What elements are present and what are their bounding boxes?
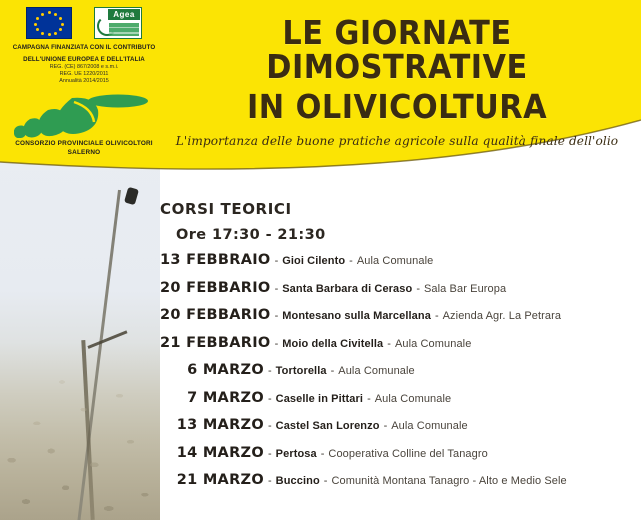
olive-tree-trunk [81,340,94,520]
schedule-row: 21 MARZO-Buccino-Comunità Montana Tanagr… [160,472,638,500]
schedule-separator: - [264,365,276,377]
schedule-separator: - [271,255,283,267]
schedule-venue: Sala Bar Europa [424,283,506,295]
schedule-date: 21 FEBBARIO [160,335,271,351]
schedule-separator: - [363,393,375,405]
schedule-row: 13 FEBBRAIO-Gioi Cilento-Aula Comunale [160,252,638,280]
schedule-date: 13 MARZO [160,417,264,433]
olive-branch-logo-icon [14,88,154,138]
schedule-date: 13 FEBBRAIO [160,252,271,268]
schedule-separator: - [345,255,357,267]
harvest-pole [77,190,121,520]
schedule-row: 13 MARZO-Castel San Lorenzo-Aula Comunal… [160,417,638,445]
schedule-row: 14 MARZO-Pertosa-Cooperativa Colline del… [160,445,638,473]
schedule-venue: Comunità Montana Tanagro - Alto e Medio … [331,475,566,487]
schedule-row: 6 MARZO-Tortorella-Aula Comunale [160,362,638,390]
schedule-venue: Aula Comunale [391,420,468,432]
poster: Agea CAMPAGNA FINANZIATA CON IL CONTRIBU… [0,0,641,520]
schedule-list: 13 FEBBRAIO-Gioi Cilento-Aula Comunale20… [160,252,638,500]
agea-label: Agea [108,9,140,20]
schedule-venue: Cooperativa Colline del Tanagro [328,448,487,460]
consortium-line-2: SALERNO [8,148,160,157]
session-hours: Ore 17:30 - 21:30 [176,227,638,243]
schedule-place: Tortorella [276,365,327,377]
funding-line-2: DELL'UNIONE EUROPEA E DELL'ITALIA [8,56,160,64]
schedule-place: Montesano sulla Marcellana [282,310,431,322]
schedule-place: Gioi Cilento [282,255,345,267]
schedule-row: 20 FEBBARIO-Montesano sulla Marcellana-A… [160,307,638,335]
harvest-pole-head [124,187,139,205]
olive-tree-branch [87,330,127,349]
program-section: CORSI TEORICI Ore 17:30 - 21:30 13 FEBBR… [160,200,638,500]
schedule-separator: - [271,283,283,295]
schedule-venue: Aula Comunale [338,365,415,377]
schedule-separator: - [271,310,283,322]
schedule-place: Castel San Lorenzo [276,420,380,432]
schedule-date: 7 MARZO [160,390,264,406]
regulation-line-1: REG. (CE) 867/2008 e s.m.i. [8,64,160,71]
schedule-place: Pertosa [276,448,317,460]
schedule-separator: - [317,448,329,460]
schedule-separator: - [264,448,276,460]
funding-line-1: CAMPAGNA FINANZIATA CON IL CONTRIBUTO [8,44,160,52]
schedule-separator: - [264,393,276,405]
schedule-separator: - [264,420,276,432]
schedule-venue: Aula Comunale [357,255,434,267]
page-title-line-1: LE GIORNATE DIMOSTRATIVE [181,16,613,83]
schedule-separator: - [383,338,395,350]
eu-flag-icon [26,7,72,39]
schedule-separator: - [380,420,392,432]
title-block: LE GIORNATE DIMOSTRATIVE IN OLIVICOLTURA… [162,16,632,148]
schedule-date: 20 FEBBARIO [160,280,271,296]
schedule-separator: - [327,365,339,377]
schedule-place: Caselle in Pittari [276,393,363,405]
consortium-line-1: CONSORZIO PROVINCIALE OLIVICOLTORI [8,139,160,148]
schedule-place: Santa Barbara di Ceraso [282,283,412,295]
schedule-row: 20 FEBBARIO-Santa Barbara di Ceraso-Sala… [160,280,638,308]
schedule-venue: Azienda Agr. La Petrara [443,310,562,322]
tagline: L'importanza delle buone pratiche agrico… [169,133,625,148]
schedule-row: 21 FEBBARIO-Moio della Civitella-Aula Co… [160,335,638,363]
emblem-row: Agea [8,6,160,40]
schedule-date: 20 FEBBARIO [160,307,271,323]
section-title: CORSI TEORICI [160,200,638,218]
schedule-separator: - [271,338,283,350]
schedule-separator: - [264,475,276,487]
agea-logo-icon: Agea [94,7,142,39]
logo-column: Agea CAMPAGNA FINANZIATA CON IL CONTRIBU… [8,6,160,157]
regulation-line-2: REG. UE 1220/2011 [8,71,160,78]
schedule-date: 14 MARZO [160,445,264,461]
schedule-date: 6 MARZO [160,362,264,378]
olive-grove-photo [0,150,160,520]
schedule-date: 21 MARZO [160,472,264,488]
regulation-line-3: Annualità 2014/2015 [8,78,160,85]
schedule-separator: - [412,283,424,295]
schedule-place: Buccino [276,475,320,487]
schedule-venue: Aula Comunale [375,393,452,405]
schedule-separator: - [320,475,332,487]
page-title-line-2: IN OLIVICOLTURA [181,90,613,124]
schedule-place: Moio della Civitella [282,338,383,350]
schedule-row: 7 MARZO-Caselle in Pittari-Aula Comunale [160,390,638,418]
schedule-separator: - [431,310,443,322]
schedule-venue: Aula Comunale [395,338,472,350]
